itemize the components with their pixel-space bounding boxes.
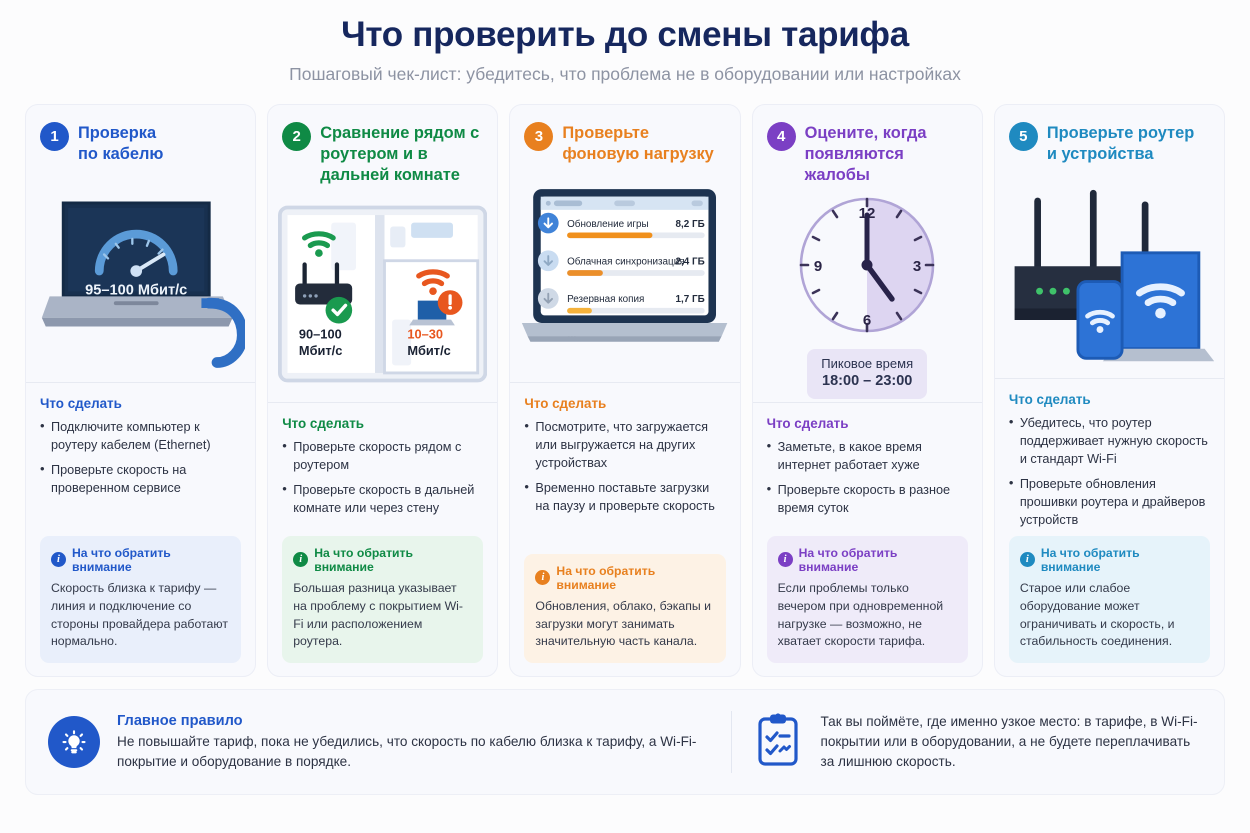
laptop-speedtest-illustration: 95–100 Мбит/с xyxy=(36,173,245,373)
todo-heading: Что сделать xyxy=(40,396,241,411)
laptop-downloads-illustration: Обновление игры 8,2 ГБ Облачная синхрони… xyxy=(520,178,729,368)
card-body: Что сделать Подключите компьютер к роуте… xyxy=(26,383,255,677)
attention-note: i На что обратить внимание Скорость близ… xyxy=(40,536,241,663)
attention-note: i На что обратить внимание Старое или сл… xyxy=(1009,536,1210,663)
step-card-2: 2 Сравнение рядом с роутером и в дальней… xyxy=(267,104,498,677)
todo-item: Посмотрите, что загружается или выгружае… xyxy=(524,418,725,472)
note-heading: На что обратить внимание xyxy=(556,564,714,592)
note-header: i На что обратить внимание xyxy=(1020,546,1199,574)
note-header: i На что обратить внимание xyxy=(293,546,472,574)
step-card-3: 3 Проверьтефоновую нагрузку Обновление и… xyxy=(509,104,740,677)
card-illustration: 95–100 Мбит/с xyxy=(36,171,245,376)
info-icon: i xyxy=(535,570,550,585)
page-subtitle: Пошаговый чек-лист: убедитесь, что пробл… xyxy=(25,64,1225,85)
lightbulb-icon xyxy=(48,716,100,768)
todo-item: Убедитесь, что роутер поддерживает нужну… xyxy=(1009,414,1210,468)
clock-illustration: 12 3 6 9 Пиковое время 18:00 – 23:00 xyxy=(791,189,943,399)
floorplan-compare-illustration: 90–100 Мбит/с 10–30 Мбит/с xyxy=(278,201,487,387)
infographic-page: Что проверить до смены тарифа Пошаговый … xyxy=(0,0,1250,833)
note-text: Большая разница указывает на проблему с … xyxy=(293,580,472,651)
todo-item: Заметьте, в какое время интернет работае… xyxy=(767,438,968,474)
card-body: Что сделать Заметьте, в какое время инте… xyxy=(753,403,982,676)
svg-text:2,4 ГБ: 2,4 ГБ xyxy=(676,257,705,268)
step-number-badge: 5 xyxy=(1009,122,1038,151)
footer-rule-text: Не повышайте тариф, пока не убедились, ч… xyxy=(117,732,731,772)
card-body: Что сделать Проверьте скорость рядом с р… xyxy=(268,403,497,676)
card-body: Что сделать Посмотрите, что загружается … xyxy=(510,383,739,677)
todo-list: Подключите компьютер к роутеру кабелем (… xyxy=(40,418,241,504)
step-number-badge: 1 xyxy=(40,122,69,151)
step-card-1: 1 Проверкапо кабелю 95–100 Мбит/с Что сд… xyxy=(25,104,256,677)
footer-main-rule: Главное правило Не повышайте тариф, пока… xyxy=(48,713,731,772)
todo-list: Проверьте скорость рядом с роутеромПрове… xyxy=(282,438,483,524)
note-heading: На что обратить внимание xyxy=(314,546,472,574)
todo-heading: Что сделать xyxy=(1009,392,1210,407)
todo-item: Подключите компьютер к роутеру кабелем (… xyxy=(40,418,241,454)
info-icon: i xyxy=(293,552,308,567)
step-number-badge: 3 xyxy=(524,122,553,151)
card-illustration: 90–100 Мбит/с 10–30 Мбит/с xyxy=(278,191,487,396)
note-text: Обновления, облако, бэкапы и загрузки мо… xyxy=(535,598,714,651)
card-illustration xyxy=(1005,171,1214,372)
card-header: 5 Проверьте роутери устройства xyxy=(995,105,1224,164)
todo-item: Временно поставьте загрузки на паузу и п… xyxy=(524,479,725,515)
note-header: i На что обратить внимание xyxy=(535,564,714,592)
card-header: 4 Оцените, когдапоявляются жалобы xyxy=(753,105,982,185)
note-heading: На что обратить внимание xyxy=(799,546,957,574)
svg-text:1,7 ГБ: 1,7 ГБ xyxy=(676,294,705,305)
note-heading: На что обратить внимание xyxy=(72,546,230,574)
card-title: Сравнение рядом с роутером и в дальней к… xyxy=(320,121,483,185)
svg-text:10–30: 10–30 xyxy=(408,327,444,342)
card-title: Проверьтефоновую нагрузку xyxy=(562,121,713,164)
note-heading: На что обратить внимание xyxy=(1041,546,1199,574)
todo-item: Проверьте скорость на проверенном сервис… xyxy=(40,461,241,497)
card-header: 1 Проверкапо кабелю xyxy=(26,105,255,164)
svg-text:90–100: 90–100 xyxy=(299,327,342,342)
footer-summary: Главное правило Не повышайте тариф, пока… xyxy=(25,689,1225,795)
attention-note: i На что обратить внимание Обновления, о… xyxy=(524,554,725,663)
note-text: Старое или слабое оборудование может огр… xyxy=(1020,580,1199,651)
svg-text:Мбит/с: Мбит/с xyxy=(299,343,342,358)
card-illustration: Обновление игры 8,2 ГБ Облачная синхрони… xyxy=(520,171,729,376)
note-text: Если проблемы только вечером при одновре… xyxy=(778,580,957,651)
note-text: Скорость близка к тарифу — линия и подкл… xyxy=(51,580,230,651)
clipboard-checklist-icon xyxy=(753,712,803,773)
todo-heading: Что сделать xyxy=(524,396,725,411)
step-number-badge: 4 xyxy=(767,122,796,151)
peak-time-value: 18:00 – 23:00 xyxy=(821,372,913,392)
card-header: 3 Проверьтефоновую нагрузку xyxy=(510,105,739,164)
card-illustration: 12 3 6 9 Пиковое время 18:00 – 23:00 xyxy=(763,191,972,396)
svg-text:3: 3 xyxy=(913,258,921,275)
svg-text:95–100 Мбит/с: 95–100 Мбит/с xyxy=(85,283,187,299)
todo-heading: Что сделать xyxy=(282,416,483,431)
svg-text:Резервная копия: Резервная копия xyxy=(568,294,645,305)
todo-list: Убедитесь, что роутер поддерживает нужну… xyxy=(1009,414,1210,536)
page-title: Что проверить до смены тарифа xyxy=(25,14,1225,55)
info-icon: i xyxy=(778,552,793,567)
attention-note: i На что обратить внимание Если проблемы… xyxy=(767,536,968,663)
info-icon: i xyxy=(51,552,66,567)
svg-text:Обновление игры: Обновление игры xyxy=(568,219,649,230)
note-header: i На что обратить внимание xyxy=(778,546,957,574)
router-devices-illustration xyxy=(1005,174,1214,369)
steps-row: 1 Проверкапо кабелю 95–100 Мбит/с Что сд… xyxy=(25,104,1225,677)
footer-rule-title: Главное правило xyxy=(117,713,731,729)
step-number-badge: 2 xyxy=(282,122,311,151)
card-title: Проверьте роутери устройства xyxy=(1047,121,1194,164)
step-card-5: 5 Проверьте роутери устройства xyxy=(994,104,1225,677)
svg-text:Облачная синхронизация: Облачная синхронизация xyxy=(568,257,685,268)
todo-list: Заметьте, в какое время интернет работае… xyxy=(767,438,968,524)
svg-text:Мбит/с: Мбит/с xyxy=(408,343,451,358)
header: Что проверить до смены тарифа Пошаговый … xyxy=(25,0,1225,85)
peak-time-label: Пиковое время xyxy=(821,356,913,371)
peak-time-badge: Пиковое время 18:00 – 23:00 xyxy=(807,349,927,399)
card-header: 2 Сравнение рядом с роутером и в дальней… xyxy=(268,105,497,185)
todo-item: Проверьте скорость в дальней комнате или… xyxy=(282,481,483,517)
todo-heading: Что сделать xyxy=(767,416,968,431)
attention-note: i На что обратить внимание Большая разни… xyxy=(282,536,483,663)
todo-item: Проверьте скорость рядом с роутером xyxy=(282,438,483,474)
note-header: i На что обратить внимание xyxy=(51,546,230,574)
todo-item: Проверьте обновления прошивки роутера и … xyxy=(1009,475,1210,529)
card-title: Оцените, когдапоявляются жалобы xyxy=(805,121,968,185)
footer-conclusion-text: Так вы поймёте, где именно узкое место: … xyxy=(820,712,1202,772)
step-card-4: 4 Оцените, когдапоявляются жалобы 12 3 6… xyxy=(752,104,983,677)
card-title: Проверкапо кабелю xyxy=(78,121,163,164)
info-icon: i xyxy=(1020,552,1035,567)
todo-list: Посмотрите, что загружается или выгружае… xyxy=(524,418,725,522)
todo-item: Проверьте скорость в разное время суток xyxy=(767,481,968,517)
svg-text:9: 9 xyxy=(814,258,822,275)
svg-text:8,2 ГБ: 8,2 ГБ xyxy=(676,219,705,230)
card-body: Что сделать Убедитесь, что роутер поддер… xyxy=(995,379,1224,677)
footer-conclusion: Так вы поймёте, где именно узкое место: … xyxy=(753,712,1202,773)
svg-text:6: 6 xyxy=(863,312,871,329)
